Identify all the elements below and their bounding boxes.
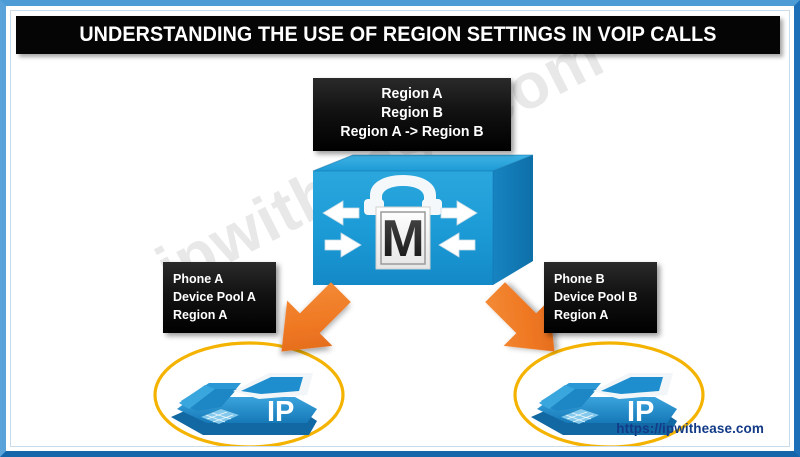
ip-phone-label: IP bbox=[267, 396, 294, 428]
center-label-line-3: Region A -> Region B bbox=[326, 123, 499, 142]
right-label-line-3: Region A bbox=[554, 306, 648, 324]
left-label-line-1: Phone A bbox=[173, 270, 267, 288]
diagram-canvas: ipwithease.com bbox=[11, 11, 789, 446]
page-title-bar: UNDERSTANDING THE USE OF REGION SETTINGS… bbox=[16, 16, 780, 54]
footer-url[interactable]: https://ipwithease.com bbox=[616, 421, 764, 436]
region-settings-label: Region A Region B Region A -> Region B bbox=[313, 78, 511, 151]
center-label-line-2: Region B bbox=[326, 104, 499, 123]
left-label-line-3: Region A bbox=[173, 306, 267, 324]
phone-b-label: Phone B Device Pool B Region A bbox=[544, 262, 657, 333]
orange-arrow-down-left bbox=[260, 269, 368, 369]
center-label-line-1: Region A bbox=[326, 85, 499, 104]
right-label-line-2: Device Pool B bbox=[554, 288, 648, 306]
svg-text:M: M bbox=[381, 210, 424, 268]
phone-a-label: Phone A Device Pool A Region A bbox=[163, 262, 276, 333]
right-label-line-1: Phone B bbox=[554, 270, 648, 288]
left-label-line-2: Device Pool A bbox=[173, 288, 267, 306]
page-title: UNDERSTANDING THE USE OF REGION SETTINGS… bbox=[79, 23, 716, 47]
infographic-page: ipwithease.com bbox=[0, 0, 800, 457]
